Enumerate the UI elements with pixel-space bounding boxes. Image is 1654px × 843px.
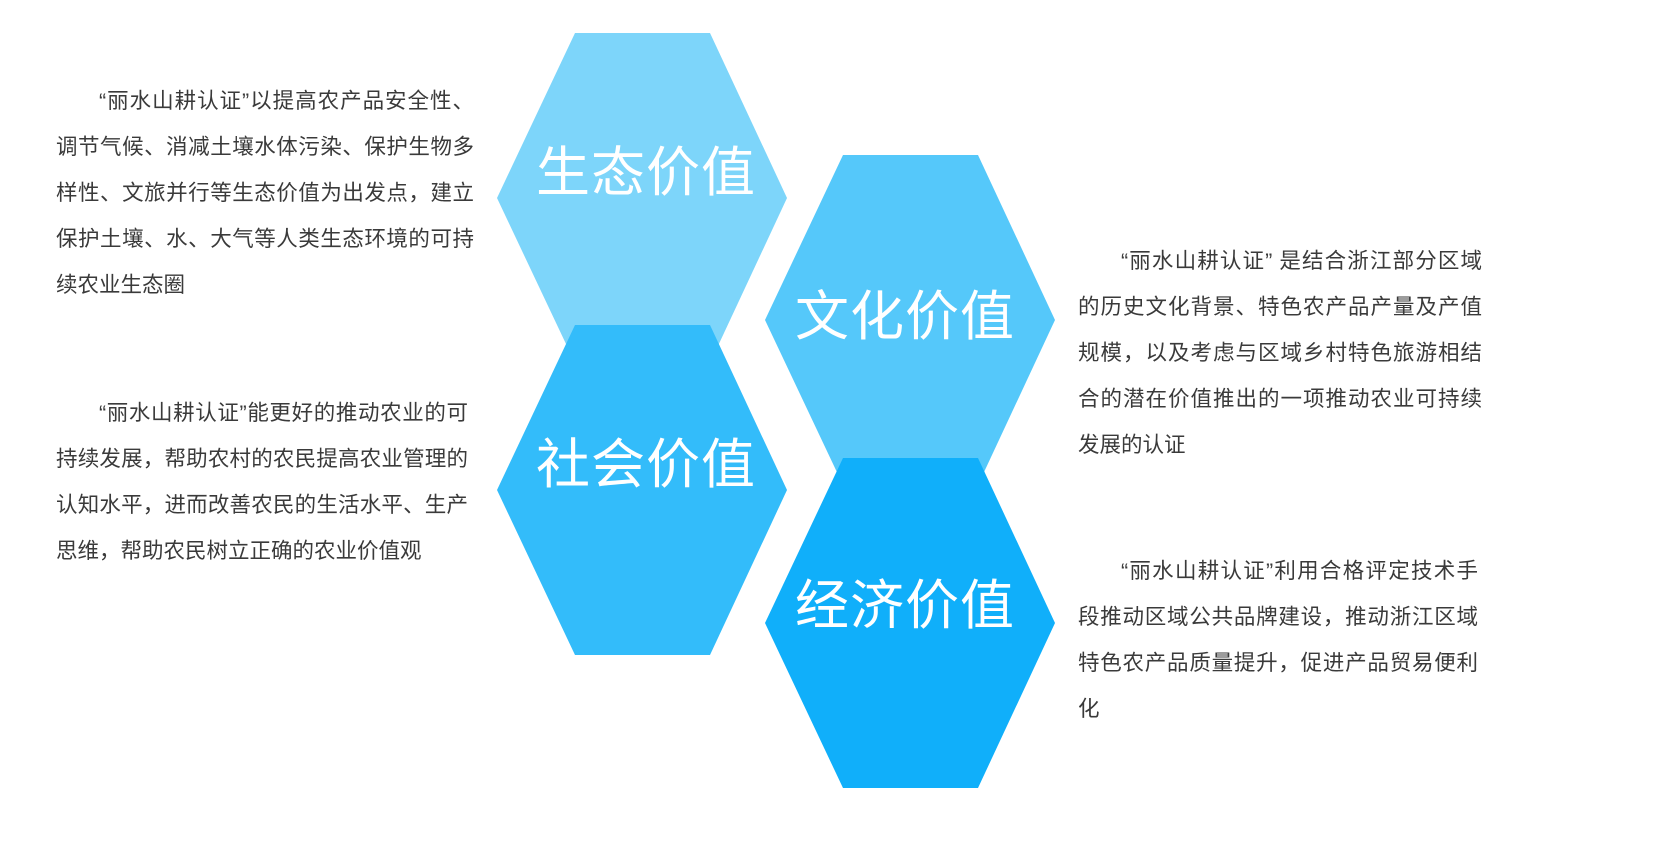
diagram-canvas: 生态价值 文化价值 社会价值 经济价值 “丽水山耕认证”以提高农产品安全性、调节… <box>0 0 1654 843</box>
description-economic: “丽水山耕认证”利用合格评定技术手段推动区域公共品牌建设，推动浙江区域特色农产品… <box>1078 548 1478 732</box>
description-cultural: “丽水山耕认证” 是结合浙江部分区域的历史文化背景、特色农产品产量及产值规模，以… <box>1078 238 1482 468</box>
description-cultural-text: “丽水山耕认证” 是结合浙江部分区域的历史文化背景、特色农产品产量及产值规模，以… <box>1078 238 1482 468</box>
description-ecological-text: “丽水山耕认证”以提高农产品安全性、调节气候、消减土壤水体污染、保护生物多样性、… <box>56 78 474 308</box>
hexagon-label-economic: 经济价值 <box>795 578 1015 635</box>
description-social: “丽水山耕认证”能更好的推动农业的可持续发展，帮助农村的农民提高农业管理的认知水… <box>56 390 468 574</box>
description-ecological: “丽水山耕认证”以提高农产品安全性、调节气候、消减土壤水体污染、保护生物多样性、… <box>56 78 474 308</box>
hexagon-label-cultural: 文化价值 <box>795 289 1015 346</box>
hexagon-label-social: 社会价值 <box>536 437 756 494</box>
description-social-text: “丽水山耕认证”能更好的推动农业的可持续发展，帮助农村的农民提高农业管理的认知水… <box>56 390 468 574</box>
description-economic-text: “丽水山耕认证”利用合格评定技术手段推动区域公共品牌建设，推动浙江区域特色农产品… <box>1078 548 1478 732</box>
hexagon-label-ecological: 生态价值 <box>536 145 756 202</box>
